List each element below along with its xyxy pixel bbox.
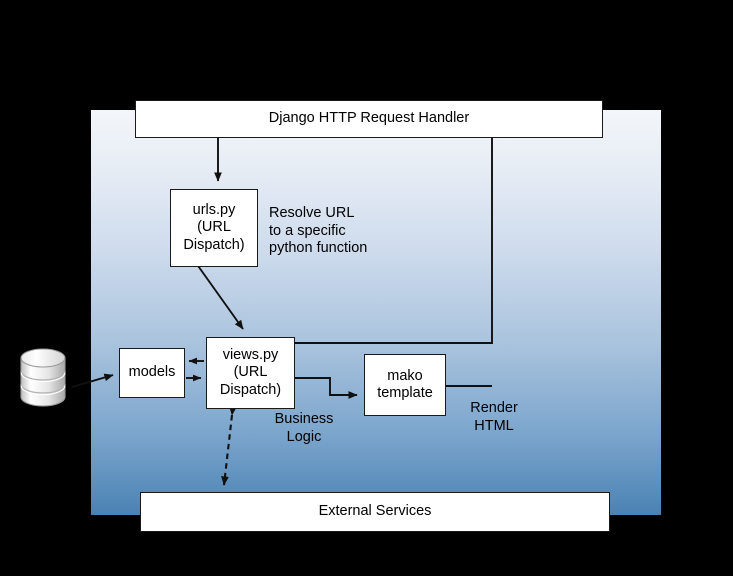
- annotation-line-3: python function: [269, 240, 389, 258]
- node-external-services[interactable]: External Services: [140, 492, 610, 532]
- annotation-line-2: Logic: [266, 429, 342, 447]
- diagram-canvas: Django HTTP Request Handler urls.py (URL…: [0, 0, 733, 576]
- node-urls-py[interactable]: urls.py (URL Dispatch): [170, 189, 258, 267]
- annotation-render-html: Render HTML: [458, 400, 530, 435]
- node-label-line-1: mako: [377, 368, 433, 385]
- annotation-line-1: Resolve URL: [269, 205, 389, 223]
- annotation-line-2: to a specific: [269, 223, 389, 241]
- node-django-http-request-handler[interactable]: Django HTTP Request Handler: [135, 100, 603, 138]
- node-label-line-3: Dispatch): [220, 382, 281, 399]
- annotation-resolve-url: Resolve URL to a specific python functio…: [269, 205, 389, 258]
- annotation-line-1: Business: [266, 411, 342, 429]
- node-models[interactable]: models: [119, 348, 185, 398]
- annotation-business-logic: Business Logic: [266, 411, 342, 446]
- node-label: models: [129, 364, 176, 381]
- node-label-line-1: urls.py: [183, 202, 244, 219]
- database-cylinder-icon: [18, 347, 68, 410]
- node-label: External Services: [319, 503, 432, 520]
- node-label-line-1: views.py: [220, 347, 281, 364]
- node-label: Django HTTP Request Handler: [269, 110, 469, 127]
- node-label-line-2: (URL: [183, 219, 244, 236]
- annotation-line-2: HTML: [458, 418, 530, 436]
- node-label-line-3: Dispatch): [183, 237, 244, 254]
- request-cycle-panel: [91, 110, 661, 515]
- node-label-line-2: template: [377, 385, 433, 402]
- node-views-py[interactable]: views.py (URL Dispatch): [206, 337, 295, 409]
- node-mako-template[interactable]: mako template: [364, 354, 446, 416]
- annotation-line-1: Render: [458, 400, 530, 418]
- node-label-line-2: (URL: [220, 364, 281, 381]
